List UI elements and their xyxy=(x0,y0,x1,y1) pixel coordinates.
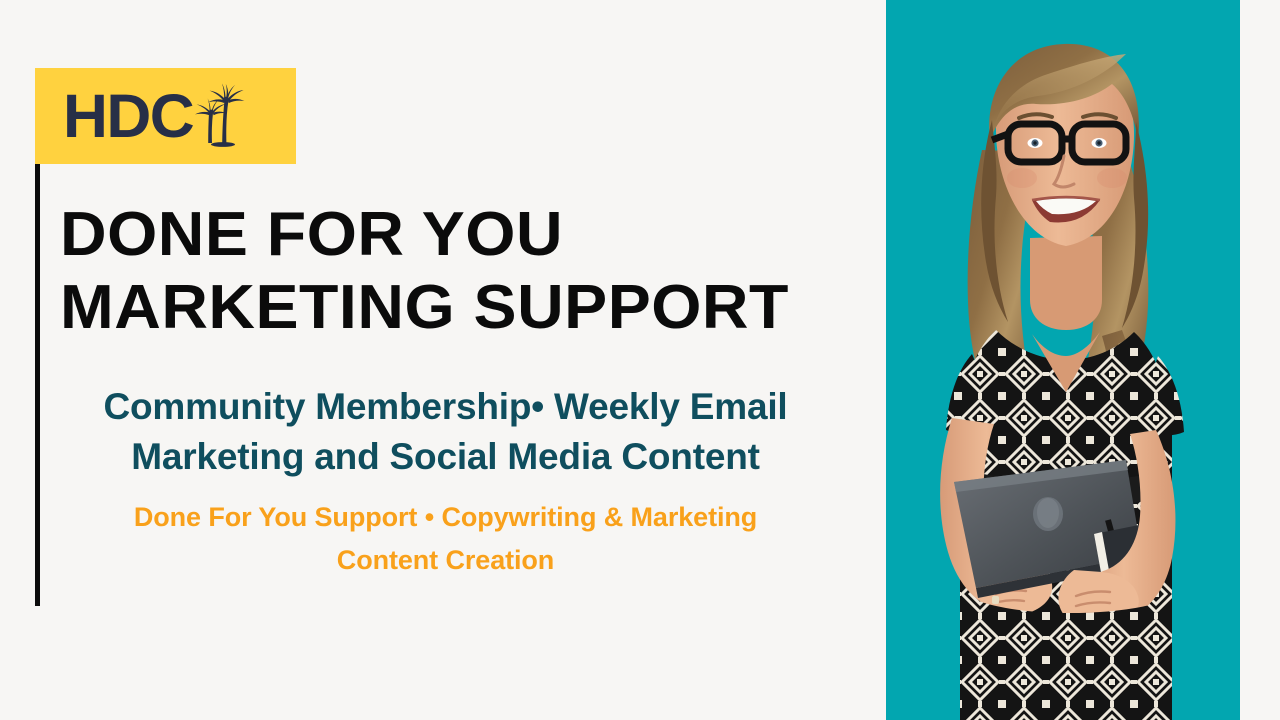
tagline-line-2: Content Creation xyxy=(38,539,853,582)
portrait-photo xyxy=(886,0,1240,720)
page-title: DONE FOR YOU MARKETING SUPPORT xyxy=(60,198,860,344)
headline-line-2: MARKETING SUPPORT xyxy=(60,271,892,344)
subheadline-line-2: Marketing and Social Media Content xyxy=(38,432,853,482)
subheadline-line-1: Community Membership• Weekly Email xyxy=(38,382,853,432)
right-gutter xyxy=(1240,0,1280,720)
brand-logo-text: HDC xyxy=(63,86,193,147)
portrait-panel xyxy=(886,0,1240,720)
palm-tree-icon xyxy=(189,76,245,148)
subheadline: Community Membership• Weekly Email Marke… xyxy=(38,382,853,482)
marketing-promo-slide: HDC xyxy=(0,0,1280,720)
tagline: Done For You Support • Copywriting & Mar… xyxy=(38,496,853,582)
tagline-line-1: Done For You Support • Copywriting & Mar… xyxy=(38,496,853,539)
brand-logo: HDC xyxy=(35,68,296,164)
headline-line-1: DONE FOR YOU xyxy=(60,198,892,271)
content-column: HDC xyxy=(0,0,886,720)
